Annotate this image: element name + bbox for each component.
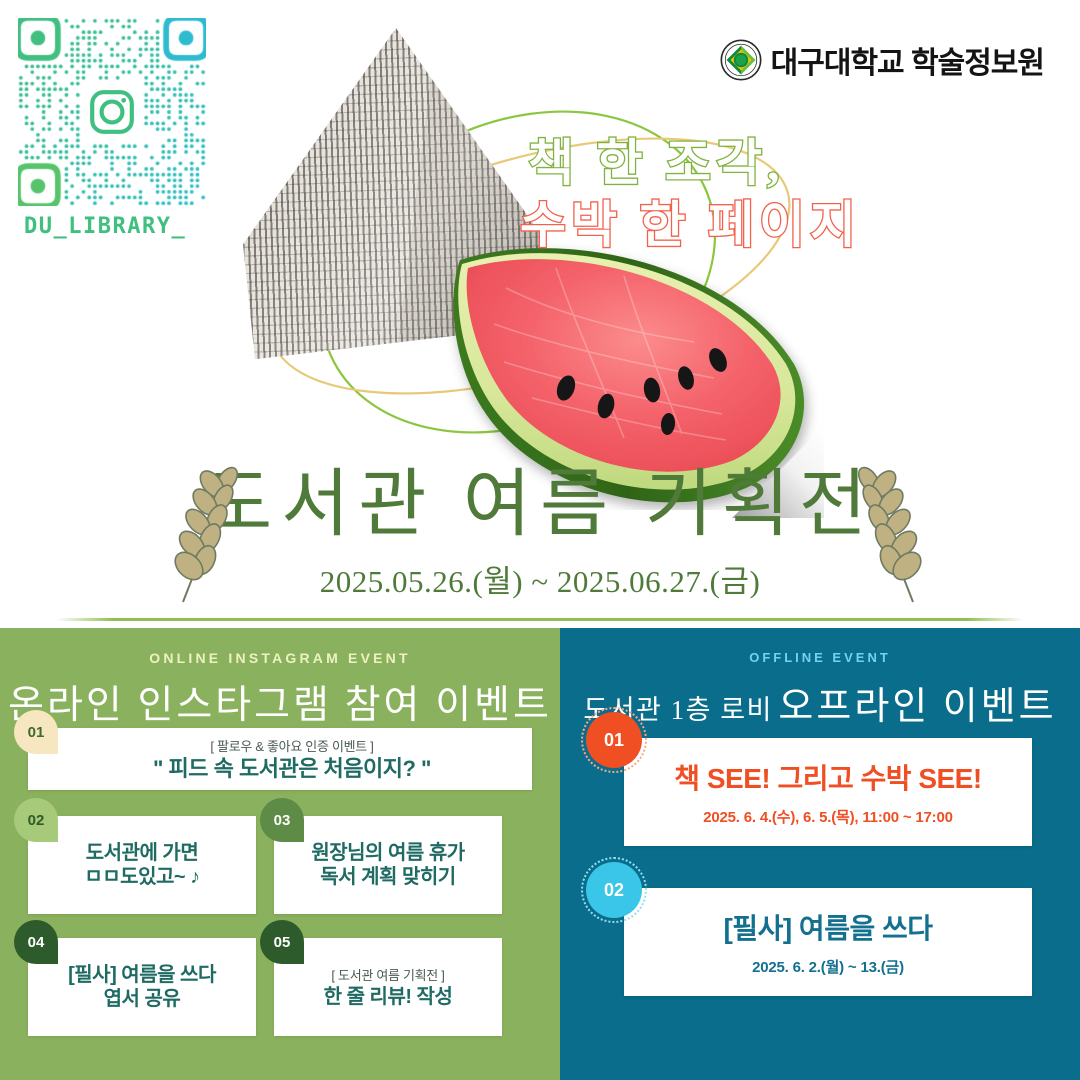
online-card-04-line2: 엽서 공유 bbox=[104, 988, 181, 1010]
offline-heading-main: 오프라인 이벤트 bbox=[778, 686, 1056, 728]
event-panels: ONLINE INSTAGRAM EVENT 온라인 인스타그램 참여 이벤트 … bbox=[0, 628, 1080, 1080]
online-card-05[interactable]: 05 [ 도서관 여름 기획전 ] 한 줄 리뷰! 작성 bbox=[274, 938, 502, 1036]
online-card-02[interactable]: 02 도서관에 가면 ㅁㅁ도있고~ ♪ bbox=[28, 816, 256, 914]
instagram-qr-block[interactable]: DU_LIBRARY_ bbox=[18, 18, 223, 239]
online-card-01-sub: [ 팔로우 & 좋아요 인증 이벤트 ] bbox=[210, 736, 373, 755]
online-card-04-badge: 04 bbox=[14, 920, 58, 964]
offline-card-01-badge: 01 bbox=[586, 712, 642, 768]
online-card-03[interactable]: 03 원장님의 여름 휴가 독서 계획 맞히기 bbox=[274, 816, 502, 914]
online-card-01-badge: 01 bbox=[14, 710, 58, 754]
offline-eyebrow-label: OFFLINE EVENT bbox=[560, 628, 1080, 665]
hero-tagline: 책 한 조각, 수박 한 페이지 bbox=[520, 122, 860, 262]
online-card-01[interactable]: 01 [ 팔로우 & 좋아요 인증 이벤트 ] " 피드 속 도서관은 처음이지… bbox=[28, 728, 532, 790]
offline-card-01-title: 책 SEE! 그리고 수박 SEE! bbox=[674, 757, 981, 797]
online-card-04-line1: [필사] 여름을 쓰다 bbox=[68, 964, 216, 986]
qr-center-badge bbox=[81, 81, 143, 143]
offline-card-02-date: 2025. 6. 2.(월) ~ 13.(금) bbox=[752, 956, 904, 977]
hero-section: DU_LIBRARY_ 대구대학교 학술정보원 bbox=[0, 0, 1080, 622]
qr-handle-label: DU_LIBRARY_ bbox=[18, 214, 223, 239]
online-card-02-badge: 02 bbox=[14, 798, 58, 842]
offline-event-panel: OFFLINE EVENT 도서관 1층 로비 오프라인 이벤트 01 책 SE… bbox=[560, 628, 1080, 1080]
online-card-05-sub: [ 도서관 여름 기획전 ] bbox=[331, 965, 444, 984]
title-block: 도서관 여름 기획전 2025.05.26.(월) ~ 2025.06.27.(… bbox=[0, 468, 1080, 601]
online-card-03-line2: 독서 계획 맞히기 bbox=[320, 866, 455, 888]
university-logo: 대구대학교 학술정보원 bbox=[720, 38, 1044, 82]
online-card-list: 01 [ 팔로우 & 좋아요 인증 이벤트 ] " 피드 속 도서관은 처음이지… bbox=[0, 728, 560, 1036]
tagline-line-2: 수박 한 페이지 bbox=[520, 197, 860, 253]
online-card-01-main: " 피드 속 도서관은 처음이지? " bbox=[153, 756, 431, 783]
online-card-03-line1: 원장님의 여름 휴가 bbox=[311, 842, 464, 864]
offline-card-01[interactable]: 01 책 SEE! 그리고 수박 SEE! 2025. 6. 4.(수), 6.… bbox=[624, 738, 1032, 846]
online-card-02-line1: 도서관에 가면 bbox=[86, 842, 198, 864]
offline-card-02-badge: 02 bbox=[586, 862, 642, 918]
laurel-branch-icon bbox=[165, 460, 251, 610]
online-heading: 온라인 인스타그램 참여 이벤트 bbox=[0, 674, 560, 730]
online-card-05-line1: 한 줄 리뷰! 작성 bbox=[324, 985, 453, 1009]
offline-card-list: 01 책 SEE! 그리고 수박 SEE! 2025. 6. 4.(수), 6.… bbox=[560, 738, 1080, 996]
offline-heading: 도서관 1층 로비 오프라인 이벤트 bbox=[560, 675, 1080, 730]
university-name-label: 대구대학교 학술정보원 bbox=[771, 38, 1044, 82]
offline-card-02-title: [필사] 여름을 쓰다 bbox=[723, 907, 932, 947]
laurel-branch-icon bbox=[845, 460, 931, 610]
online-card-04[interactable]: 04 [필사] 여름을 쓰다 엽서 공유 bbox=[28, 938, 256, 1036]
daegu-university-emblem-icon bbox=[720, 39, 762, 81]
qr-frame[interactable] bbox=[18, 18, 206, 206]
instagram-icon bbox=[87, 87, 137, 137]
section-divider bbox=[56, 618, 1024, 621]
online-eyebrow-label: ONLINE INSTAGRAM EVENT bbox=[0, 628, 560, 666]
tagline-line-1: 책 한 조각, bbox=[528, 135, 785, 191]
offline-card-01-date: 2025. 6. 4.(수), 6. 5.(목), 11:00 ~ 17:00 bbox=[703, 806, 953, 827]
online-card-02-line2: ㅁㅁ도있고~ ♪ bbox=[84, 866, 199, 888]
online-event-panel: ONLINE INSTAGRAM EVENT 온라인 인스타그램 참여 이벤트 … bbox=[0, 628, 560, 1080]
offline-card-02[interactable]: 02 [필사] 여름을 쓰다 2025. 6. 2.(월) ~ 13.(금) bbox=[624, 888, 1032, 996]
online-card-03-badge: 03 bbox=[260, 798, 304, 842]
online-card-05-badge: 05 bbox=[260, 920, 304, 964]
